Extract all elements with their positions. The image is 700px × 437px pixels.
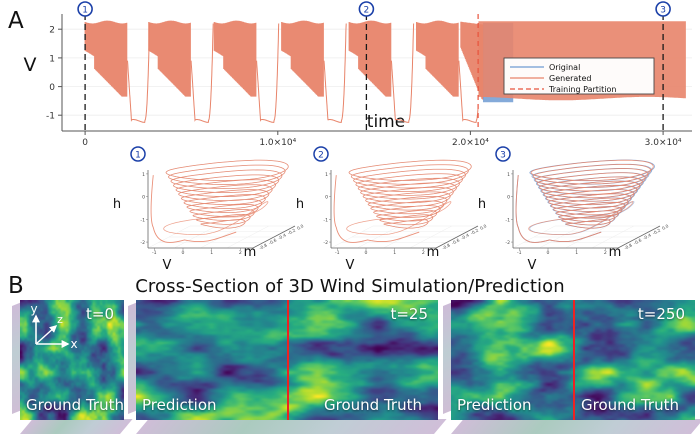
m-tick-label: -0.6 — [268, 237, 278, 245]
legend-label-0: Original — [549, 63, 580, 72]
h-tick-label: -1 — [323, 217, 328, 223]
m-tick-label: 0.0 — [661, 223, 670, 231]
marker-number: 2 — [364, 6, 370, 16]
marker-number: 3 — [500, 151, 506, 161]
figure-root: A B 210-101.0×10⁴2.0×10⁴3.0×10⁴Vtime123O… — [0, 0, 700, 437]
m-tick-label: -0.4 — [277, 232, 287, 240]
wind-simulation-panel: Cross-Section of 3D Wind Simulation/Pred… — [0, 272, 700, 437]
phase-m-label: m — [609, 245, 622, 260]
generated-burst-spikes — [85, 21, 458, 97]
segment-label-ground-truth: Ground Truth — [581, 396, 679, 414]
m-tick-label: -0.6 — [633, 237, 643, 245]
legend-label-2: Training Partition — [548, 85, 616, 94]
v-tick-label: 1 — [393, 250, 396, 256]
slow-manifold-hook — [334, 175, 419, 242]
marker-number: 3 — [660, 6, 666, 16]
v-tick-label: -1 — [152, 250, 157, 256]
y-axis-letter: y — [30, 304, 37, 316]
v-tick-label: 2 — [422, 250, 425, 256]
wind-image-2: t=250PredictionGround Truth — [443, 300, 695, 434]
phase-m-label: m — [244, 245, 257, 260]
v-tick-label: -1 — [517, 250, 522, 256]
segment-label-ground-truth: Ground Truth — [324, 396, 422, 414]
v-tick-label: 1 — [210, 250, 213, 256]
marker-number: 2 — [318, 151, 324, 161]
time-label: t=25 — [390, 305, 428, 323]
phase-h-label: h — [113, 197, 121, 212]
phase-h-label: h — [296, 197, 304, 212]
phase-plot-2: 210-1-2-10120.0-0.2-0.4-0.6-0.8hVm — [296, 147, 488, 272]
z-axis-arrow — [36, 326, 56, 344]
box-bottom-face — [451, 419, 700, 434]
m-tick-label: 0.0 — [479, 223, 488, 231]
m-tick-label: -0.6 — [451, 237, 461, 245]
marker-number: 1 — [82, 6, 88, 16]
excursion-orbit — [164, 202, 268, 235]
h-tick-label: -1 — [505, 217, 510, 223]
phase-v-label: V — [163, 258, 172, 272]
legend-label-1: Generated — [549, 74, 591, 83]
m-tick-label: -0.2 — [652, 227, 662, 235]
m-tick-label: -0.4 — [642, 232, 652, 240]
wind-image-0: t=0Ground Truthyxz — [12, 300, 124, 434]
timeseries-plot: 210-101.0×10⁴2.0×10⁴3.0×10⁴Vtime123Origi… — [0, 0, 700, 160]
h-tick-label: -2 — [140, 240, 145, 246]
phase-m-label: m — [427, 245, 440, 260]
phase-v-label: V — [528, 258, 537, 272]
segment-label-prediction: Prediction — [142, 396, 217, 414]
h-tick-label: 0 — [507, 195, 510, 201]
phase-marker-2: 2 — [314, 147, 328, 161]
m-tick-label: 0.0 — [296, 223, 305, 231]
m-tick-label: -0.4 — [460, 232, 470, 240]
h-tick-label: 1 — [325, 172, 328, 178]
timeseries-marker-1: 1 — [78, 2, 92, 16]
v-tick-label: 2 — [604, 250, 607, 256]
v-tick-label: 0 — [547, 250, 550, 256]
phase-marker-3: 3 — [496, 147, 510, 161]
x-axis-letter: x — [70, 337, 77, 351]
h-tick-label: -2 — [505, 240, 510, 246]
prediction-groundtruth-divider — [573, 300, 575, 420]
v-tick-label: 1 — [575, 250, 578, 256]
v-tick-label: 0 — [182, 250, 185, 256]
segment-label-prediction: Prediction — [457, 396, 532, 414]
timeseries-marker-2: 2 — [359, 2, 373, 16]
m-tick-label: -0.8 — [441, 242, 451, 250]
wind-image-1: t=25PredictionGround Truth — [128, 300, 438, 434]
x-axis-label: time — [367, 112, 405, 132]
axis-indicator: yxz — [26, 304, 82, 356]
phase-portrait-row: 110-1-2-10120.0-0.2-0.4-0.6-0.8hVm210-1-… — [0, 144, 700, 272]
v-tick-label: -1 — [335, 250, 340, 256]
h-tick-label: 0 — [325, 195, 328, 201]
m-tick-label: -0.8 — [623, 242, 633, 250]
marker-number: 1 — [135, 151, 141, 161]
time-label: t=250 — [638, 305, 685, 323]
excursion-orbit — [347, 202, 451, 235]
h-tick-label: 1 — [142, 172, 145, 178]
v-tick-label: 0 — [365, 250, 368, 256]
h-tick-label: -2 — [323, 240, 328, 246]
attractor-#e8846a — [349, 160, 471, 228]
m-tick-label: -0.2 — [287, 227, 297, 235]
box-bottom-face — [136, 419, 447, 434]
y-axis-label: V — [24, 54, 37, 76]
m-tick-label: -0.2 — [470, 227, 480, 235]
panel-b-title: Cross-Section of 3D Wind Simulation/Pred… — [0, 276, 700, 297]
phase-plot-3: 310-1-2-10120.0-0.2-0.4-0.6-0.8hVm — [478, 147, 670, 272]
box-bottom-face — [20, 419, 133, 434]
time-label: t=0 — [86, 305, 114, 323]
y-tick-label: 0 — [49, 83, 55, 93]
phase-plot-1: 110-1-2-10120.0-0.2-0.4-0.6-0.8hVm — [113, 147, 305, 272]
phase-marker-1: 1 — [131, 147, 145, 161]
y-tick-label: 2 — [49, 26, 55, 36]
timeseries-legend: OriginalGeneratedTraining Partition — [504, 58, 654, 94]
m-tick-label: -0.8 — [258, 242, 268, 250]
y-tick-label: -1 — [46, 112, 55, 122]
y-tick-label: 1 — [49, 54, 55, 64]
h-tick-label: -1 — [140, 217, 145, 223]
h-tick-label: 1 — [507, 172, 510, 178]
prediction-groundtruth-divider — [287, 300, 289, 420]
h-tick-label: 0 — [142, 195, 145, 201]
attractor-#e8846a — [166, 160, 288, 228]
v-tick-label: 2 — [239, 250, 242, 256]
phase-h-label: h — [478, 197, 486, 212]
z-axis-letter: z — [57, 313, 63, 326]
segment-label-ground-truth: Ground Truth — [26, 396, 124, 414]
timeseries-marker-3: 3 — [656, 2, 670, 16]
phase-v-label: V — [346, 258, 355, 272]
